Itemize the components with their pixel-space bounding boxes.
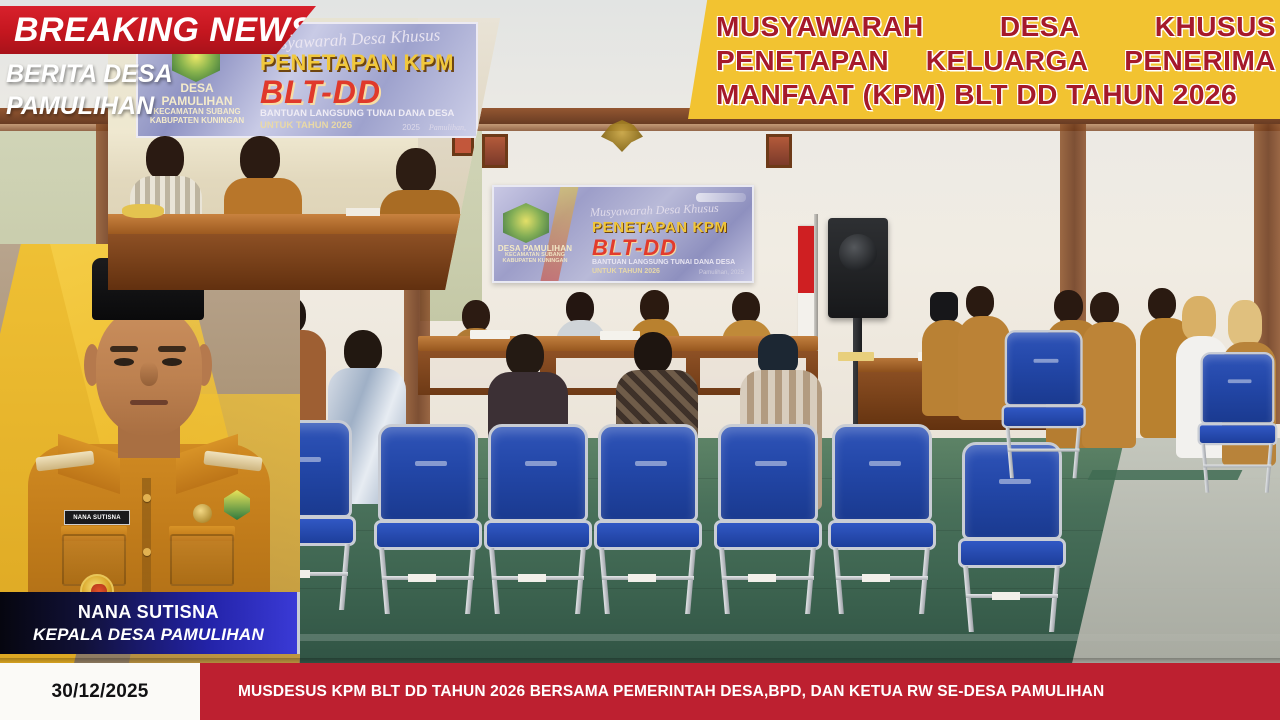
banner-subtitle1: BANTUAN LANGSUNG TUNAI DANA DESA (592, 259, 735, 266)
banner-ribbon (540, 187, 579, 283)
inset-paper (346, 208, 380, 216)
mouth (130, 400, 168, 405)
eye-right (162, 358, 182, 366)
lower-third-title: KEPALA DESA PAMULIHAN (33, 625, 264, 645)
blue-chair (372, 424, 484, 614)
banner-title-bltdd: BLT-DD (592, 235, 677, 261)
breaking-subheadline: BERITA DESA PAMULIHAN (6, 58, 216, 122)
inset-banner-title-penetapan: PENETAPAN KPM (260, 50, 454, 76)
framed-portrait (766, 134, 792, 168)
nose (140, 362, 158, 386)
hall-backdrop-banner: DESA PAMULIHAN KECAMATAN SUBANG KABUPATE… (492, 185, 754, 283)
banner-org-line3: KABUPATEN KUNINGAN (496, 259, 574, 265)
uniform-emblem-icon (193, 504, 212, 523)
ticker-text: MUSDESUS KPM BLT DD TAHUN 2026 BERSAMA P… (238, 683, 1104, 701)
breaking-news-banner: BREAKING NEWS (0, 6, 316, 54)
inset-banner-place: Pamulihan, (429, 123, 466, 132)
blue-chair (712, 424, 824, 614)
blue-chair (1000, 330, 1087, 478)
banner-signature: Pamulihan, 2025 (699, 270, 744, 276)
chest-pocket-right (170, 534, 234, 586)
breaking-news-label: BREAKING NEWS (0, 11, 313, 50)
snack-plate (838, 352, 874, 361)
village-logo-icon (503, 203, 549, 243)
table-paper (600, 331, 640, 340)
eye-left (114, 358, 134, 366)
blue-chair (592, 424, 704, 614)
blue-chair (482, 424, 594, 614)
headline-line1: MUSYAWARAH DESA KHUSUS (716, 10, 1276, 44)
inset-banner-title-bltdd: BLT-DD (260, 74, 381, 111)
banner-script-text: Musyawarah Desa Khusus (590, 201, 719, 220)
lower-third-name: NANA SUTISNA (78, 602, 219, 623)
portrait-nana-sutisna: NANA SUTISNA (18, 258, 280, 614)
headline-line2: PENETAPAN KELUARGA PENERIMA (716, 44, 1276, 78)
blue-chair (826, 424, 938, 614)
inset-banner-year: 2025 (402, 123, 420, 132)
inset-banner-subtitle1: BANTUAN LANGSUNG TUNAI DANA DESA (260, 108, 454, 119)
lower-third-nameplate: NANA SUTISNA KEPALA DESA PAMULIHAN (0, 592, 300, 654)
ticker-text-box: MUSDESUS KPM BLT DD TAHUN 2026 BERSAMA P… (200, 663, 1280, 720)
broadcast-graphic: DESA PAMULIHAN KECAMATAN SUBANG KABUPATE… (0, 0, 1280, 720)
bottom-ticker-bar: 30/12/2025 MUSDESUS KPM BLT DD TAHUN 202… (0, 663, 1280, 720)
ticker-date: 30/12/2025 (51, 681, 148, 703)
headline-line3: MANFAAT (KPM) BLT DD TAHUN 2026 (716, 78, 1276, 112)
shirt-button (143, 494, 151, 502)
shirt-button (143, 548, 151, 556)
inset-banner-subtitle2: UNTUK TAHUN 2026 (260, 120, 352, 131)
banner-sponsor-logos (696, 193, 746, 202)
name-tag-text: NANA SUTISNA (73, 515, 121, 521)
ticker-date-box: 30/12/2025 (0, 663, 200, 720)
banner-title-penetapan: PENETAPAN KPM (592, 219, 728, 236)
loudspeaker (828, 218, 888, 318)
subheadline-line1: BERITA DESA (6, 58, 216, 90)
eyebrow-left (110, 346, 138, 352)
uniform-name-tag: NANA SUTISNA (64, 510, 130, 525)
inset-snack-bowl (122, 204, 164, 218)
subheadline-line2: PAMULIHAN (6, 90, 216, 122)
inset-table-front (108, 234, 500, 290)
inset-table-top (108, 214, 500, 234)
eyebrow-right (158, 346, 186, 352)
framed-portrait (482, 134, 508, 168)
headline-panel: MUSYAWARAH DESA KHUSUS PENETAPAN KELUARG… (688, 0, 1280, 119)
banner-org-text: DESA PAMULIHAN KECAMATAN SUBANG KABUPATE… (496, 245, 574, 265)
blue-chair (1196, 352, 1279, 493)
banner-subtitle2: UNTUK TAHUN 2026 (592, 268, 660, 275)
table-paper (470, 330, 510, 339)
